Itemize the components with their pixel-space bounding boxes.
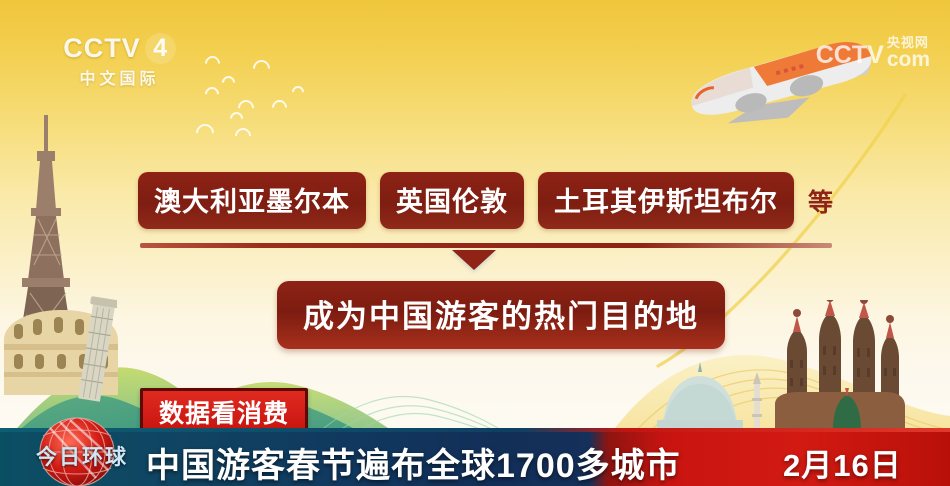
bird-icon (219, 73, 237, 91)
etc-label: 等 (808, 183, 833, 219)
bird-icon (192, 120, 217, 145)
broadcast-screen: CCTV 4 中文国际 CCTV 央视网 com 澳大利亚墨尔本 英国伦敦 土耳… (0, 0, 950, 486)
cctv-logo-number: 4 (145, 33, 176, 64)
banner-top-edge (0, 428, 950, 432)
horizontal-divider-line (140, 243, 832, 248)
bird-icon (290, 84, 307, 101)
cctv-com-watermark: CCTV 央视网 com (816, 36, 930, 70)
bird-icon (269, 97, 290, 118)
leaning-tower-of-pisa-graphic (62, 295, 117, 405)
cctv4-channel-logo: CCTV 4 中文国际 (42, 30, 197, 92)
down-arrow-icon (452, 250, 496, 270)
conclusion-banner: 成为中国游客的热门目的地 (277, 281, 725, 349)
watermark-com-text: com (887, 49, 930, 70)
city-chip-istanbul: 土耳其伊斯坦布尔 (538, 172, 794, 229)
cctv-logo-subtitle: 中文国际 (79, 65, 159, 89)
program-name: 今日环球 (36, 441, 128, 471)
broadcast-date: 2月16日 (783, 440, 902, 485)
bird-icon (232, 125, 255, 148)
bird-icon (202, 84, 222, 104)
cctv-logo-text: CCTV (63, 33, 141, 64)
city-chip-melbourne: 澳大利亚墨尔本 (138, 172, 366, 229)
bird-icon (249, 56, 273, 80)
city-chip-row: 澳大利亚墨尔本 英国伦敦 土耳其伊斯坦布尔 等 (138, 172, 833, 229)
watermark-cctv-text: CCTV (816, 41, 884, 70)
headline-text: 中国游客春节遍布全球1700多城市 (146, 438, 681, 486)
city-chip-london: 英国伦敦 (380, 172, 524, 229)
bird-icon (202, 53, 223, 74)
